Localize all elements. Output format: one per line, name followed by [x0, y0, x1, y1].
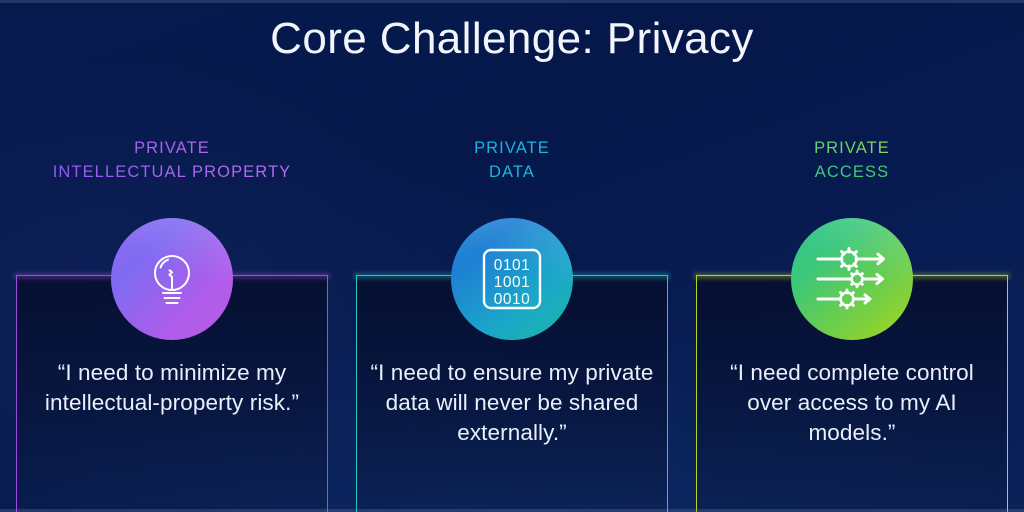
slide-canvas: Core Challenge: Privacy PRIVATE INTELLEC…: [0, 0, 1024, 512]
column-heading-2: PRIVATE DATA: [356, 136, 668, 184]
gear-icon-large: [839, 249, 860, 270]
column-heading-3: PRIVATE ACCESS: [696, 136, 1008, 184]
column-heading-3-line2: ACCESS: [696, 160, 1008, 184]
column-heading-1-line2: INTELLECTUAL PROPERTY: [16, 160, 328, 184]
access-control-gears-icon: [813, 244, 891, 314]
column-heading-2-line1: PRIVATE: [356, 136, 668, 160]
gear-icon-small: [849, 271, 865, 287]
icon-circle-private-data: 0101 1001 0010: [451, 218, 573, 340]
column-heading-3-line1: PRIVATE: [696, 136, 1008, 160]
icon-circle-private-access: [791, 218, 913, 340]
column-heading-1: PRIVATE INTELLECTUAL PROPERTY: [16, 136, 328, 184]
column-heading-1-line1: PRIVATE: [16, 136, 328, 160]
quote-intellectual-property: “I need to minimize my intellectual-prop…: [30, 358, 314, 418]
binary-row-2: 0010: [494, 291, 530, 308]
column-private-intellectual-property: PRIVATE INTELLECTUAL PROPERTY: [16, 0, 328, 512]
icon-circle-intellectual-property: [111, 218, 233, 340]
column-private-data: PRIVATE DATA 0101 1001 0010 “I need to e…: [356, 0, 668, 512]
quote-private-access: “I need complete control over access to …: [710, 358, 994, 448]
gear-icon-medium: [838, 290, 856, 308]
binary-row-1: 1001: [494, 274, 530, 291]
quote-private-data: “I need to ensure my private data will n…: [370, 358, 654, 448]
column-private-access: PRIVATE ACCESS: [696, 0, 1008, 512]
columns-container: PRIVATE INTELLECTUAL PROPERTY: [0, 0, 1024, 512]
binary-row-0: 0101: [494, 257, 530, 274]
binary-data-icon: 0101 1001 0010: [474, 241, 550, 317]
lightbulb-icon: [136, 243, 208, 315]
column-heading-2-line2: DATA: [356, 160, 668, 184]
